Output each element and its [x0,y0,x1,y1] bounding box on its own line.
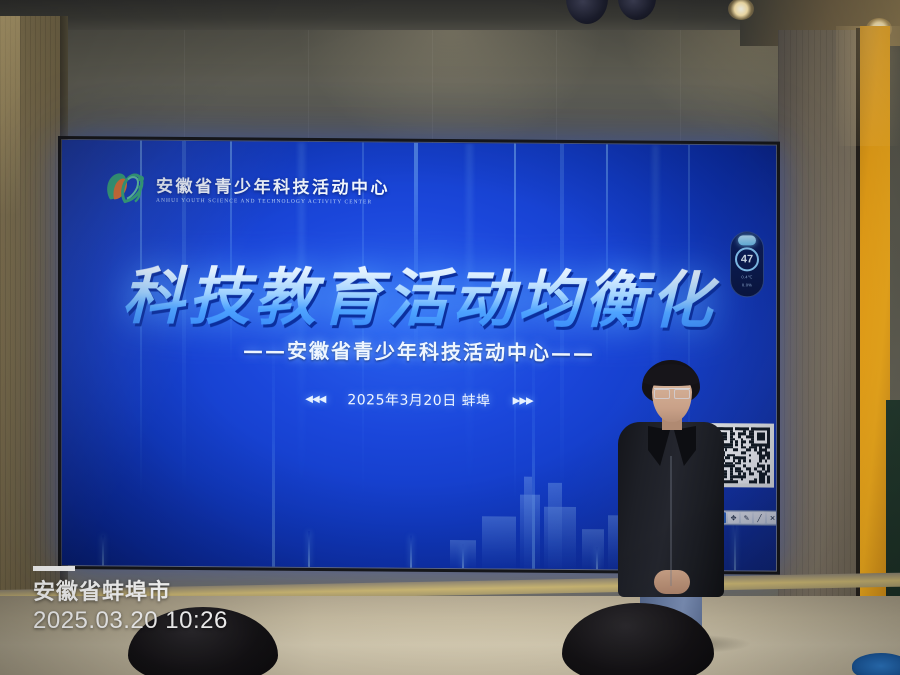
left-column-highlight [0,16,20,216]
green-wall-panel [886,400,900,600]
logo-chinese-name: 安徽省青少年科技活动中心 [156,172,390,199]
glasses-icon [654,388,690,396]
watermark-city: 安徽省蚌埠市 [33,580,228,605]
timestamp-watermark: 安徽省蚌埠市 2025.03.20 10:26 [33,566,228,635]
foreground-blue-object [852,653,900,675]
amber-strip-glow [836,26,900,146]
weather-aqi-widget[interactable]: 47 0.4℃ 0.0% [730,231,764,297]
watermark-divider [33,566,75,571]
anhui-youth-science-logo-icon [102,165,148,209]
presenter-zipper [670,456,672,586]
cloud-icon [738,235,756,245]
presenter-hands [654,570,690,594]
right-arrows-icon: ▶▶▶ [513,395,533,406]
left-arrows-icon: ◀◀◀ [305,393,325,404]
organization-logo: 安徽省青少年科技活动中心 ANHUI YOUTH SCIENCE AND TEC… [102,165,390,211]
widget-line-2: 0.0% [742,282,752,287]
photo-scene: 安徽省青少年科技活动中心 ANHUI YOUTH SCIENCE AND TEC… [0,0,900,675]
widget-value: 47 [735,247,759,271]
watermark-datetime: 2025.03.20 10:26 [33,607,228,635]
logo-english-name: ANHUI YOUTH SCIENCE AND TECHNOLOGY ACTIV… [156,198,390,206]
date-location-text: 2025年3月20日 蚌埠 [347,389,490,410]
pen-icon[interactable]: ✎ [741,512,752,523]
slide-title: 科技教育活动均衡化 [62,245,776,341]
wall-light-glow [300,24,600,152]
close-icon[interactable]: ✕ [767,513,776,524]
highlighter-icon[interactable]: ╱ [754,512,765,523]
widget-line-1: 0.4℃ [741,274,752,279]
